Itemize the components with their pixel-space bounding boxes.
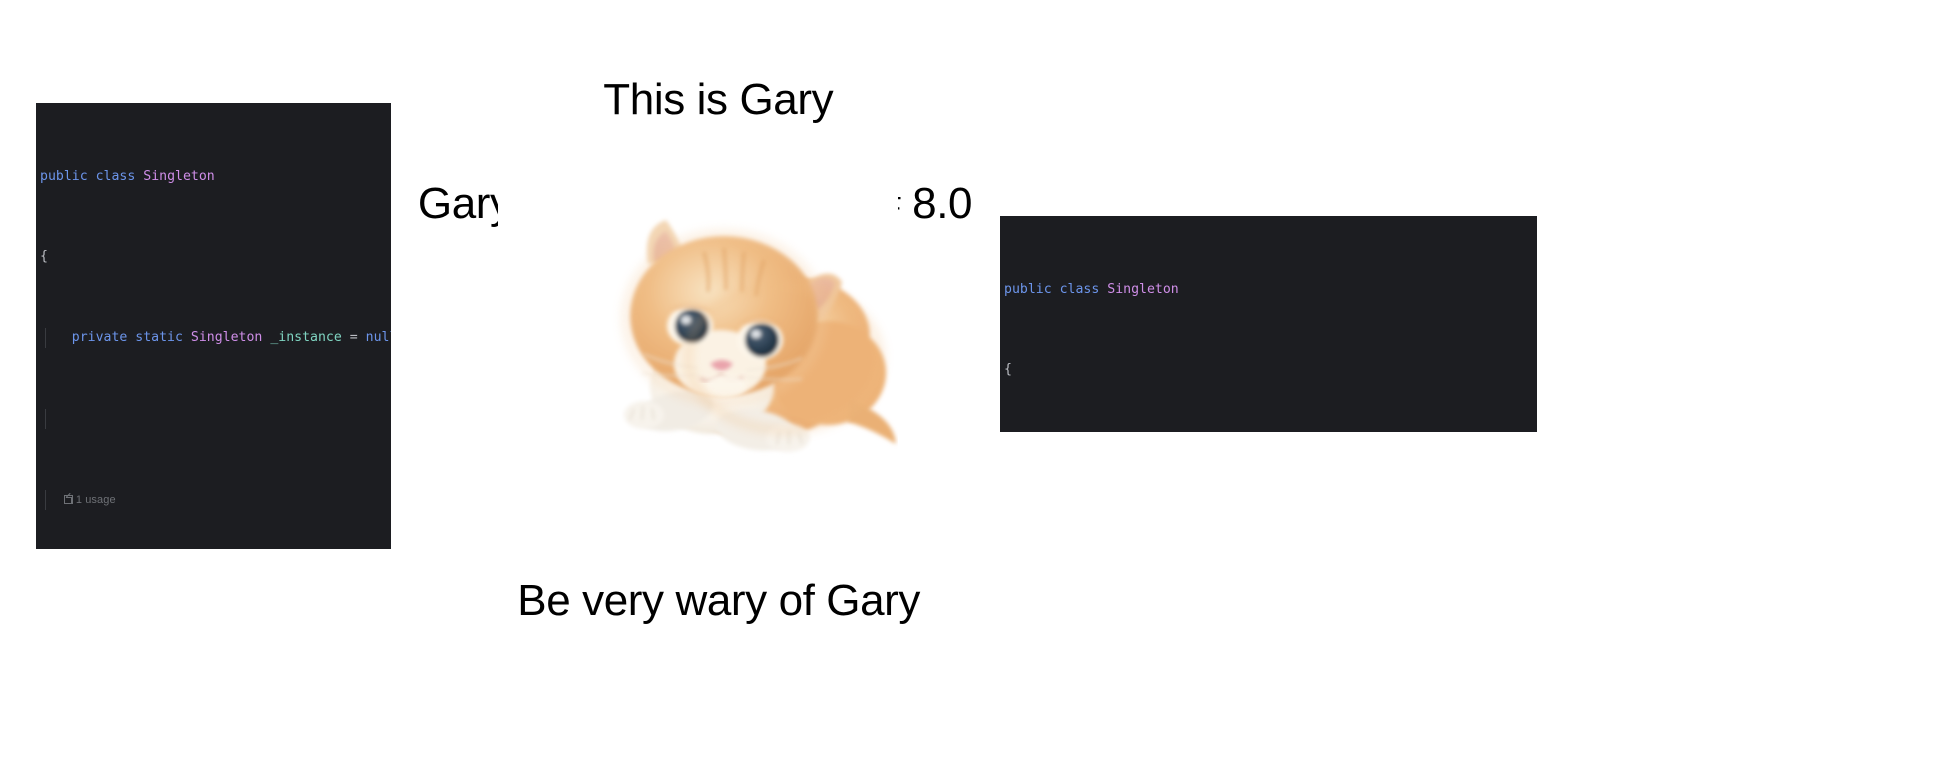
external-link-icon [64,495,73,504]
brace-open: { [1004,362,1012,377]
type-singleton: Singleton [191,330,262,345]
keyword-public: public [1004,282,1052,297]
field-instance: _instance [270,330,341,345]
type-singleton: Singleton [143,169,214,184]
keyword-class: class [1060,282,1100,297]
code-line: private static Singleton _instance = nul… [40,328,391,348]
indent-guide [45,490,46,510]
code-line-blank [40,409,391,429]
slide-canvas: This is Gary Gary has brought you C# 8.0… [0,0,1938,762]
usage-hint-label: 1 usage [76,494,116,506]
keyword-class: class [96,169,136,184]
literal-null: null [366,330,391,345]
classic-singleton-code-block[interactable]: public class Singleton { private static … [36,103,391,549]
keyword-public: public [40,169,88,184]
code-line: public class Singleton [1004,280,1537,300]
code-line: { [1004,360,1537,380]
title-line-1: This is Gary [603,75,833,124]
code-usage-hint-line: 1 usage [40,490,391,510]
type-singleton: Singleton [1107,282,1178,297]
csharp8-singleton-code-block[interactable]: public class Singleton { private static … [1000,216,1537,432]
code-line: public class Singleton [40,167,391,187]
usage-hint[interactable]: 1 usage [64,494,116,506]
caption-text: Be very wary of Gary [517,576,920,625]
kitten-photo [498,168,898,468]
brace-open: { [40,249,48,264]
keyword-static: static [135,330,183,345]
code-line: { [40,247,391,267]
indent-guide [45,409,46,429]
operator-assign: = [350,330,358,345]
page-caption: Be very wary of Gary [0,523,1390,679]
keyword-private: private [72,330,128,345]
indent-guide [45,328,46,348]
